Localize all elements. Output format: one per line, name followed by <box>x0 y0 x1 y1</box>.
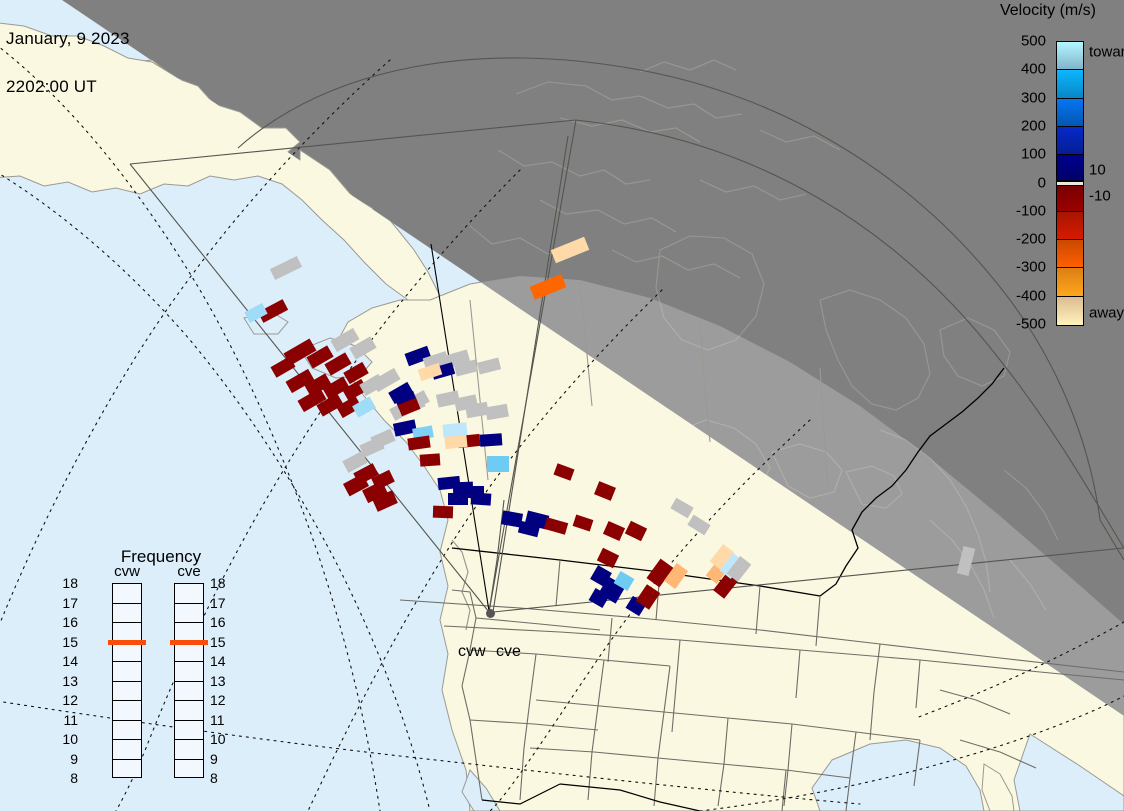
radar-label-cve: cve <box>496 643 521 661</box>
frequency-gauge-cell <box>113 701 141 721</box>
colorbar-away-label: away <box>1089 304 1124 321</box>
radar-label-cvw: cvw <box>458 643 486 661</box>
velocity-bin <box>420 453 441 466</box>
colorbar-toward-label: toward <box>1089 44 1124 61</box>
frequency-panel: Frequency cvw18171615141312111098cve1817… <box>86 547 236 797</box>
frequency-gauge-cell <box>113 643 141 663</box>
frequency-gauge-cell <box>113 721 141 741</box>
time-label: 2202:00 UT <box>6 79 130 95</box>
colorbar-segment <box>1057 268 1083 296</box>
frequency-gauge-cvw: cvw18171615141312111098 <box>112 583 142 778</box>
frequency-gauge-cve: cve18171615141312111098 <box>174 583 204 778</box>
colorbar-tick-label: 0 <box>1038 174 1046 191</box>
frequency-tick-label: 8 <box>210 770 218 786</box>
frequency-tick-label: 13 <box>62 673 78 689</box>
colorbar-toward-threshold-label: 10 <box>1089 161 1106 178</box>
velocity-bin <box>477 358 501 375</box>
frequency-gauge-cell <box>113 760 141 780</box>
colorbar-segment <box>1057 155 1083 180</box>
colorbar-segment <box>1057 99 1083 127</box>
frequency-tick-label: 10 <box>62 731 78 747</box>
frequency-tick-label: 9 <box>70 751 78 767</box>
velocity-bin <box>444 435 467 449</box>
velocity-bin <box>433 506 453 519</box>
frequency-gauge-cell <box>175 643 203 663</box>
frequency-tick-label: 9 <box>210 751 218 767</box>
velocity-bin <box>551 237 590 263</box>
frequency-gauge-cell <box>113 740 141 760</box>
radar-station-marker <box>486 609 495 618</box>
velocity-bin <box>603 521 625 541</box>
frequency-marker <box>108 640 146 645</box>
colorbar-tick-label: 300 <box>1021 89 1046 106</box>
frequency-gauge-cell <box>175 701 203 721</box>
velocity-bin <box>485 404 509 421</box>
velocity-bin <box>957 546 975 576</box>
frequency-tick-label: 17 <box>210 595 226 611</box>
colorbar-away-threshold-label: -10 <box>1089 188 1111 205</box>
velocity-bin <box>480 433 503 447</box>
map-canvas: January, 9 2023 2202:00 UT Velocity (m/s… <box>0 0 1124 811</box>
velocity-bin <box>687 515 710 536</box>
frequency-tick-label: 12 <box>210 692 226 708</box>
colorbar-segment <box>1057 127 1083 155</box>
frequency-gauge-label: cvw <box>109 563 145 580</box>
colorbar-tick-label: -200 <box>1016 231 1046 248</box>
colorbar-title: Velocity (m/s) <box>983 2 1113 20</box>
frequency-tick-label: 18 <box>210 575 226 591</box>
velocity-bin <box>625 521 647 541</box>
velocity-bin <box>597 548 619 568</box>
colorbar-segment <box>1057 42 1083 70</box>
velocity-bin <box>670 498 693 518</box>
colorbar-strip <box>1056 41 1084 326</box>
velocity-bin <box>573 515 594 532</box>
frequency-gauge-scale <box>112 583 142 778</box>
colorbar-tick-label: 200 <box>1021 117 1046 134</box>
velocity-bin <box>530 274 567 300</box>
timestamp-block: January, 9 2023 2202:00 UT <box>6 0 130 127</box>
frequency-gauge-scale <box>174 583 204 778</box>
frequency-tick-label: 13 <box>210 673 226 689</box>
colorbar-segment <box>1057 186 1083 211</box>
colorbar-segment <box>1057 70 1083 98</box>
frequency-gauge-cell <box>175 682 203 702</box>
colorbar-tick-label: -500 <box>1016 316 1046 333</box>
velocity-bin <box>487 456 509 472</box>
frequency-gauge-cell <box>175 740 203 760</box>
frequency-gauge-label: cve <box>171 563 207 580</box>
velocity-bin <box>594 481 616 501</box>
frequency-gauge-cell <box>175 760 203 780</box>
colorbar-tick-label: 500 <box>1021 33 1046 50</box>
frequency-tick-label: 12 <box>62 692 78 708</box>
date-label: January, 9 2023 <box>6 31 130 47</box>
frequency-tick-label: 11 <box>63 712 78 728</box>
frequency-gauge-cell <box>175 604 203 624</box>
colorbar-tick-label: -100 <box>1016 202 1046 219</box>
velocity-bin <box>407 436 430 451</box>
frequency-gauge-cell <box>175 662 203 682</box>
velocity-bin <box>448 493 468 505</box>
frequency-gauge-cell <box>175 721 203 741</box>
frequency-tick-label: 15 <box>210 634 226 650</box>
frequency-gauge-cell <box>113 584 141 604</box>
frequency-gauge-cell <box>175 584 203 604</box>
frequency-tick-label: 16 <box>210 614 226 630</box>
velocity-bin <box>553 463 574 480</box>
velocity-colorbar: Velocity (m/s) 5004003002001000-100-200-… <box>985 0 1124 340</box>
frequency-tick-label: 18 <box>62 575 78 591</box>
frequency-gauge-cell <box>113 682 141 702</box>
frequency-tick-label: 11 <box>210 712 225 728</box>
frequency-tick-label: 8 <box>70 770 78 786</box>
frequency-gauge-cell <box>113 662 141 682</box>
colorbar-tick-label: 400 <box>1021 61 1046 78</box>
frequency-tick-label: 15 <box>62 634 78 650</box>
colorbar-tick-label: -300 <box>1016 259 1046 276</box>
frequency-tick-label: 16 <box>62 614 78 630</box>
frequency-tick-label: 10 <box>210 731 226 747</box>
velocity-bin <box>270 256 302 280</box>
colorbar-tick-label: 100 <box>1021 146 1046 163</box>
colorbar-segment <box>1057 212 1083 240</box>
velocity-bin <box>544 517 568 535</box>
frequency-gauge-cell <box>113 604 141 624</box>
frequency-tick-label: 14 <box>210 653 226 669</box>
colorbar-tick-label: -400 <box>1016 287 1046 304</box>
frequency-tick-label: 17 <box>62 595 78 611</box>
colorbar-segment <box>1057 240 1083 268</box>
frequency-tick-label: 14 <box>62 653 78 669</box>
frequency-marker <box>170 640 208 645</box>
velocity-bin <box>471 492 492 505</box>
colorbar-segment <box>1057 297 1083 325</box>
